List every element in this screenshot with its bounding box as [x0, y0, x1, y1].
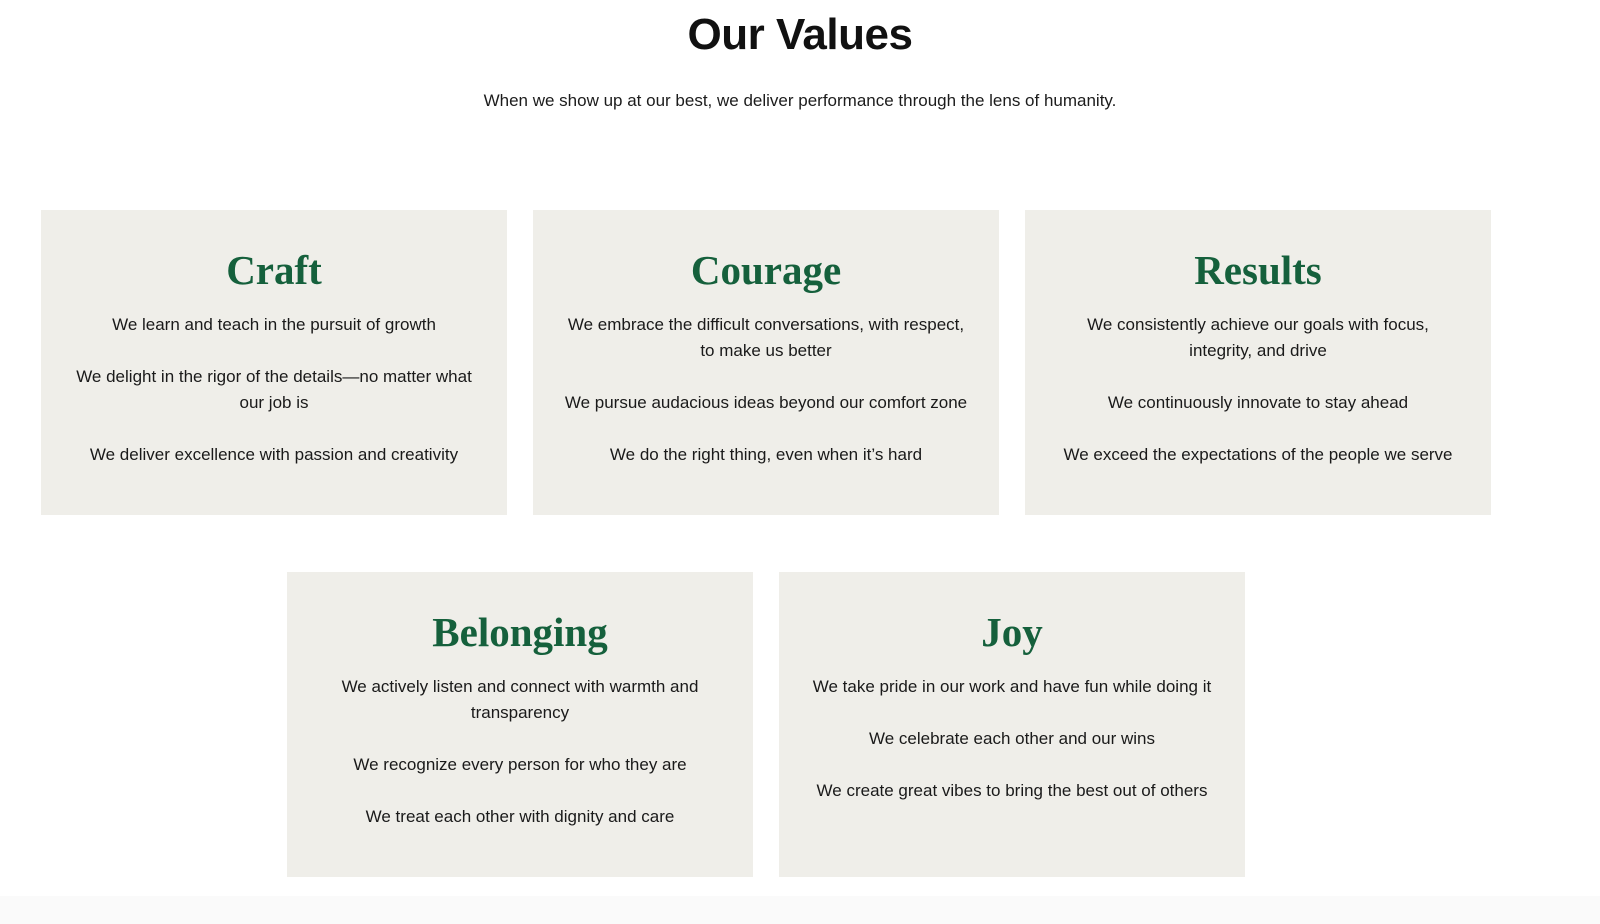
- value-title-courage: Courage: [563, 232, 969, 294]
- value-card-courage: Courage We embrace the difficult convers…: [533, 210, 999, 515]
- value-point: We delight in the rigor of the details—n…: [71, 364, 477, 442]
- value-point: We create great vibes to bring the best …: [809, 778, 1215, 804]
- value-points-craft: We learn and teach in the pursuit of gro…: [71, 294, 477, 468]
- value-card-belonging: Belonging We actively listen and connect…: [287, 572, 753, 877]
- value-point: We recognize every person for who they a…: [317, 752, 723, 804]
- value-points-courage: We embrace the difficult conversations, …: [563, 294, 969, 468]
- value-point: We consistently achieve our goals with f…: [1055, 312, 1461, 390]
- value-point: We exceed the expectations of the people…: [1055, 442, 1461, 468]
- value-title-craft: Craft: [71, 232, 477, 294]
- value-point: We embrace the difficult conversations, …: [563, 312, 969, 390]
- values-grid: Craft We learn and teach in the pursuit …: [40, 210, 1492, 877]
- value-point: We actively listen and connect with warm…: [317, 674, 723, 752]
- value-point: We do the right thing, even when it’s ha…: [563, 442, 969, 468]
- value-card-results: Results We consistently achieve our goal…: [1025, 210, 1491, 515]
- value-points-results: We consistently achieve our goals with f…: [1055, 294, 1461, 468]
- values-row-bottom: Belonging We actively listen and connect…: [40, 572, 1492, 877]
- page-bottom-strip: [0, 896, 1600, 924]
- value-title-results: Results: [1055, 232, 1461, 294]
- value-point: We take pride in our work and have fun w…: [809, 674, 1215, 726]
- value-points-joy: We take pride in our work and have fun w…: [809, 656, 1215, 804]
- value-title-belonging: Belonging: [317, 594, 723, 656]
- value-point: We celebrate each other and our wins: [809, 726, 1215, 778]
- value-card-craft: Craft We learn and teach in the pursuit …: [41, 210, 507, 515]
- value-point: We deliver excellence with passion and c…: [71, 442, 477, 468]
- value-points-belonging: We actively listen and connect with warm…: [317, 656, 723, 830]
- page-title: Our Values: [0, 0, 1600, 62]
- values-page: Our Values When we show up at our best, …: [0, 0, 1600, 924]
- value-point: We pursue audacious ideas beyond our com…: [563, 390, 969, 442]
- page-subtitle: When we show up at our best, we deliver …: [0, 62, 1600, 113]
- value-point: We continuously innovate to stay ahead: [1055, 390, 1461, 442]
- value-point: We treat each other with dignity and car…: [317, 804, 723, 830]
- value-card-joy: Joy We take pride in our work and have f…: [779, 572, 1245, 877]
- value-point: We learn and teach in the pursuit of gro…: [71, 312, 477, 364]
- value-title-joy: Joy: [809, 594, 1215, 656]
- values-row-top: Craft We learn and teach in the pursuit …: [40, 210, 1492, 515]
